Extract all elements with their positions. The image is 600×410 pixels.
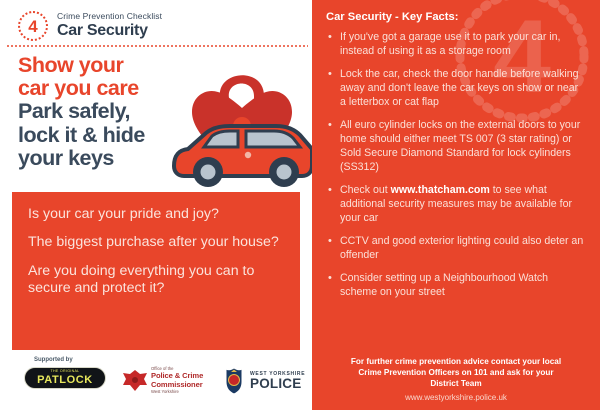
patlock-wordmark: PATLOCK bbox=[37, 374, 93, 386]
west-yorkshire-police-logo: WEST YORKSHIRE POLICE bbox=[222, 363, 310, 399]
pcc-line-4: West Yorkshire bbox=[151, 390, 203, 395]
question-3: Are you doing everything you can to secu… bbox=[28, 263, 284, 298]
fact-item-2: Lock the car, check the door handle befo… bbox=[326, 68, 586, 110]
footer-line-3: District Team bbox=[326, 378, 586, 389]
fact-item-6: Consider setting up a Neighbourhood Watc… bbox=[326, 272, 586, 300]
checklist-number: 4 bbox=[28, 18, 37, 35]
car-and-heart-padlock-illustration bbox=[172, 50, 312, 190]
wyp-text: WEST YORKSHIRE POLICE bbox=[250, 372, 305, 391]
questions-panel: Is your car your pride and joy? The bigg… bbox=[12, 192, 300, 350]
fact-text-pre-4: Check out bbox=[340, 184, 391, 196]
fact-item-3: All euro cylinder locks on the external … bbox=[326, 119, 586, 175]
left-panel: 4 Crime Prevention Checklist Car Securit… bbox=[0, 0, 312, 410]
thatcham-link[interactable]: www.thatcham.com bbox=[391, 184, 490, 196]
logos-bar: Supported by THE ORIGINAL PATLOCK Office… bbox=[0, 355, 312, 410]
key-facts-panel: 4 Car Security - Key Facts: If you've go… bbox=[312, 0, 600, 410]
checklist-number-badge: 4 bbox=[18, 11, 48, 41]
question-2: The biggest purchase after your house? bbox=[28, 234, 284, 251]
wyp-line-2: POLICE bbox=[250, 377, 305, 391]
pcc-text: Office of the Police & Crime Commissione… bbox=[151, 367, 203, 396]
fact-text-pre-6: Consider setting up a Neighbourhood Watc… bbox=[340, 272, 548, 298]
hero-section: Show your car you care Park safely, lock… bbox=[0, 46, 312, 188]
poster-header: 4 Crime Prevention Checklist Car Securit… bbox=[0, 0, 312, 46]
key-facts-title: Car Security - Key Facts: bbox=[326, 11, 586, 23]
poster: 4 Crime Prevention Checklist Car Securit… bbox=[0, 0, 600, 410]
pcc-line-3: Commissioner bbox=[151, 381, 203, 390]
fact-text-pre-1: If you've got a garage use it to park yo… bbox=[340, 31, 561, 57]
fact-item-1: If you've got a garage use it to park yo… bbox=[326, 31, 586, 59]
fact-text-pre-3: All euro cylinder locks on the external … bbox=[340, 119, 580, 173]
pcc-rose-icon bbox=[122, 369, 148, 393]
header-kicker: Crime Prevention Checklist bbox=[57, 11, 162, 21]
police-crest-icon bbox=[222, 367, 246, 395]
key-facts-list: If you've got a garage use it to park yo… bbox=[326, 31, 586, 300]
header-text: Crime Prevention Checklist Car Security bbox=[57, 9, 162, 40]
police-crime-commissioner-logo: Office of the Police & Crime Commissione… bbox=[122, 363, 214, 399]
car-icon bbox=[174, 126, 312, 187]
fact-text-pre-2: Lock the car, check the door handle befo… bbox=[340, 68, 579, 108]
fact-text-pre-5: CCTV and good exterior lighting could al… bbox=[340, 235, 583, 261]
question-1: Is your car your pride and joy? bbox=[28, 206, 284, 223]
police-website-url[interactable]: www.westyorkshire.police.uk bbox=[326, 393, 586, 402]
page-title: Car Security bbox=[57, 22, 162, 40]
contact-footer: For further crime prevention advice cont… bbox=[326, 356, 586, 402]
patlock-logo: THE ORIGINAL PATLOCK bbox=[24, 367, 106, 389]
footer-line-2: Crime Prevention Officers on 101 and ask… bbox=[326, 367, 586, 378]
fact-item-4: Check out www.thatcham.com to see what a… bbox=[326, 184, 586, 226]
supported-by-label: Supported by bbox=[34, 357, 73, 363]
footer-line-1: For further crime prevention advice cont… bbox=[326, 356, 586, 367]
fact-item-5: CCTV and good exterior lighting could al… bbox=[326, 235, 586, 263]
